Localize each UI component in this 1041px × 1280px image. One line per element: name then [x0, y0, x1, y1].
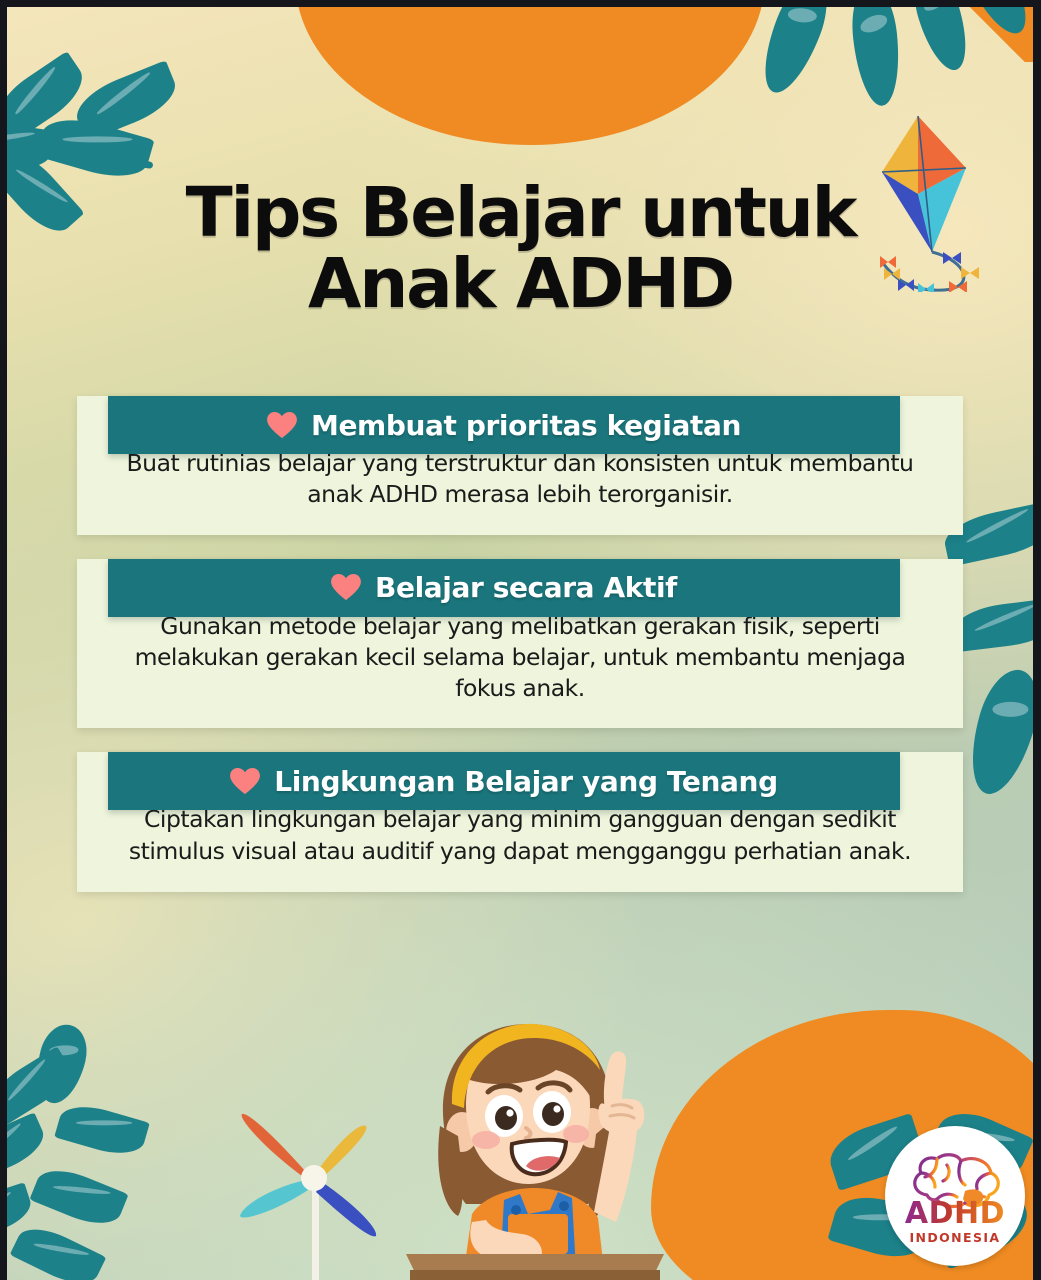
tip-card-title: Lingkungan Belajar yang Tenang [274, 765, 777, 798]
frame-left-edge [0, 0, 7, 1280]
tip-card: Belajar secara Aktif Gunakan metode bela… [0, 559, 1041, 729]
heart-icon [267, 412, 297, 439]
heart-icon [230, 768, 260, 795]
tip-card-header: Belajar secara Aktif [108, 559, 900, 617]
adhd-indonesia-logo: ADHD INDONESIA [885, 1126, 1025, 1266]
tip-card-title: Belajar secara Aktif [375, 571, 677, 604]
frame-top-edge [0, 0, 1041, 7]
tip-card-title: Membuat prioritas kegiatan [311, 409, 741, 442]
heart-icon [331, 574, 361, 601]
child-raising-hand-illustration [400, 1008, 670, 1280]
page-title-line-2: Anak ADHD [0, 249, 1041, 320]
infographic-poster: Tips Belajar untuk Anak ADHD Membuat pri… [0, 0, 1041, 1280]
pinwheel-icon [226, 1100, 416, 1280]
tip-card-header: Lingkungan Belajar yang Tenang [108, 752, 900, 810]
tip-card-text: Gunakan metode belajar yang melibatkan g… [111, 605, 929, 705]
frame-right-edge [1033, 0, 1041, 1280]
page-title: Tips Belajar untuk Anak ADHD [0, 178, 1041, 320]
tips-card-list: Membuat prioritas kegiatan Buat rutinias… [0, 396, 1041, 916]
page-title-line-1: Tips Belajar untuk [0, 178, 1041, 249]
logo-subtitle: INDONESIA [909, 1230, 1000, 1245]
tip-card: Lingkungan Belajar yang Tenang Ciptakan … [0, 752, 1041, 892]
orange-semicircle [295, 0, 765, 145]
logo-name: ADHD [905, 1199, 1005, 1229]
tip-card: Membuat prioritas kegiatan Buat rutinias… [0, 396, 1041, 535]
leaf-branch-bottom-left [0, 1008, 212, 1280]
tip-card-header: Membuat prioritas kegiatan [108, 396, 900, 454]
